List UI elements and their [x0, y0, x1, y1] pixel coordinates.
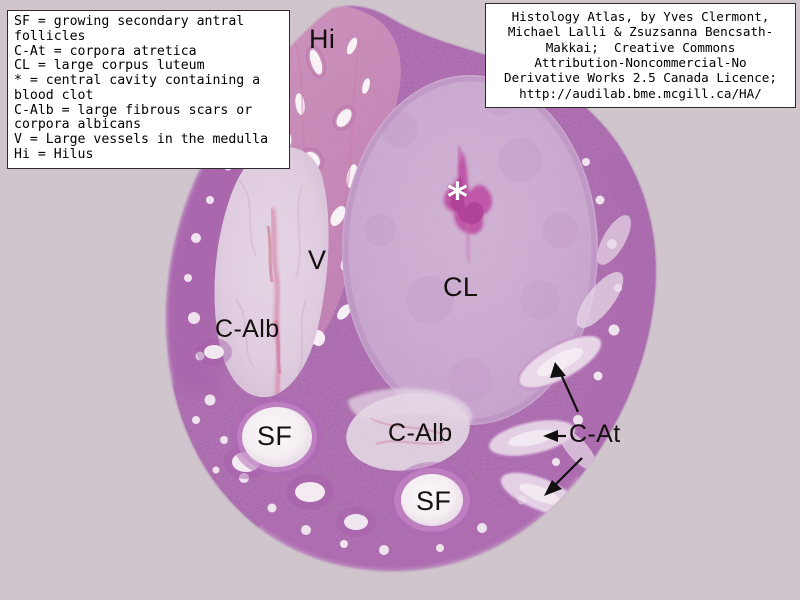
label-corpus-albicans-upper: C-Alb [215, 317, 280, 342]
legend-line: follicles [14, 30, 284, 45]
label-vessels: V [308, 247, 326, 274]
legend-line: blood clot [14, 89, 284, 104]
credit-line: Attribution-Noncommercial-No [492, 55, 789, 70]
legend-line: C-Alb = large fibrous scars or [14, 104, 284, 119]
label-corpus-albicans-lower: C-Alb [388, 421, 453, 446]
credit-url-line[interactable]: http://audilab.bme.mcgill.ca/HA/ [492, 86, 789, 101]
screenshot-canvas: Hi V CL C-Alb C-Alb SF SF C-At * SF = gr… [0, 0, 800, 600]
label-blood-clot-asterisk: * [447, 178, 468, 218]
label-secondary-follicle-right: SF [416, 488, 451, 515]
credit-line: Michael Lalli & Zsuzsanna Bencsath- [492, 24, 789, 39]
legend-line: * = central cavity containing a [14, 74, 284, 89]
abbreviation-legend-box: SF = growing secondary antral follicles … [7, 10, 290, 169]
credit-line: Makkai; Creative Commons [492, 40, 789, 55]
label-secondary-follicle-left: SF [257, 423, 292, 450]
credit-line: Derivative Works 2.5 Canada Licence; [492, 70, 789, 85]
label-corpus-luteum: CL [443, 274, 478, 301]
legend-line: CL = large corpus luteum [14, 59, 284, 74]
label-hilus: Hi [309, 26, 335, 53]
legend-line: corpora albicans [14, 118, 284, 133]
credit-line: Histology Atlas, by Yves Clermont, [492, 9, 789, 24]
attribution-credit-box: Histology Atlas, by Yves Clermont, Micha… [485, 3, 796, 108]
label-corpora-atretica: C-At [569, 422, 621, 447]
legend-line: Hi = Hilus [14, 148, 284, 163]
legend-line: V = Large vessels in the medulla [14, 133, 284, 148]
legend-line: SF = growing secondary antral [14, 15, 284, 30]
legend-line: C-At = corpora atretica [14, 45, 284, 60]
